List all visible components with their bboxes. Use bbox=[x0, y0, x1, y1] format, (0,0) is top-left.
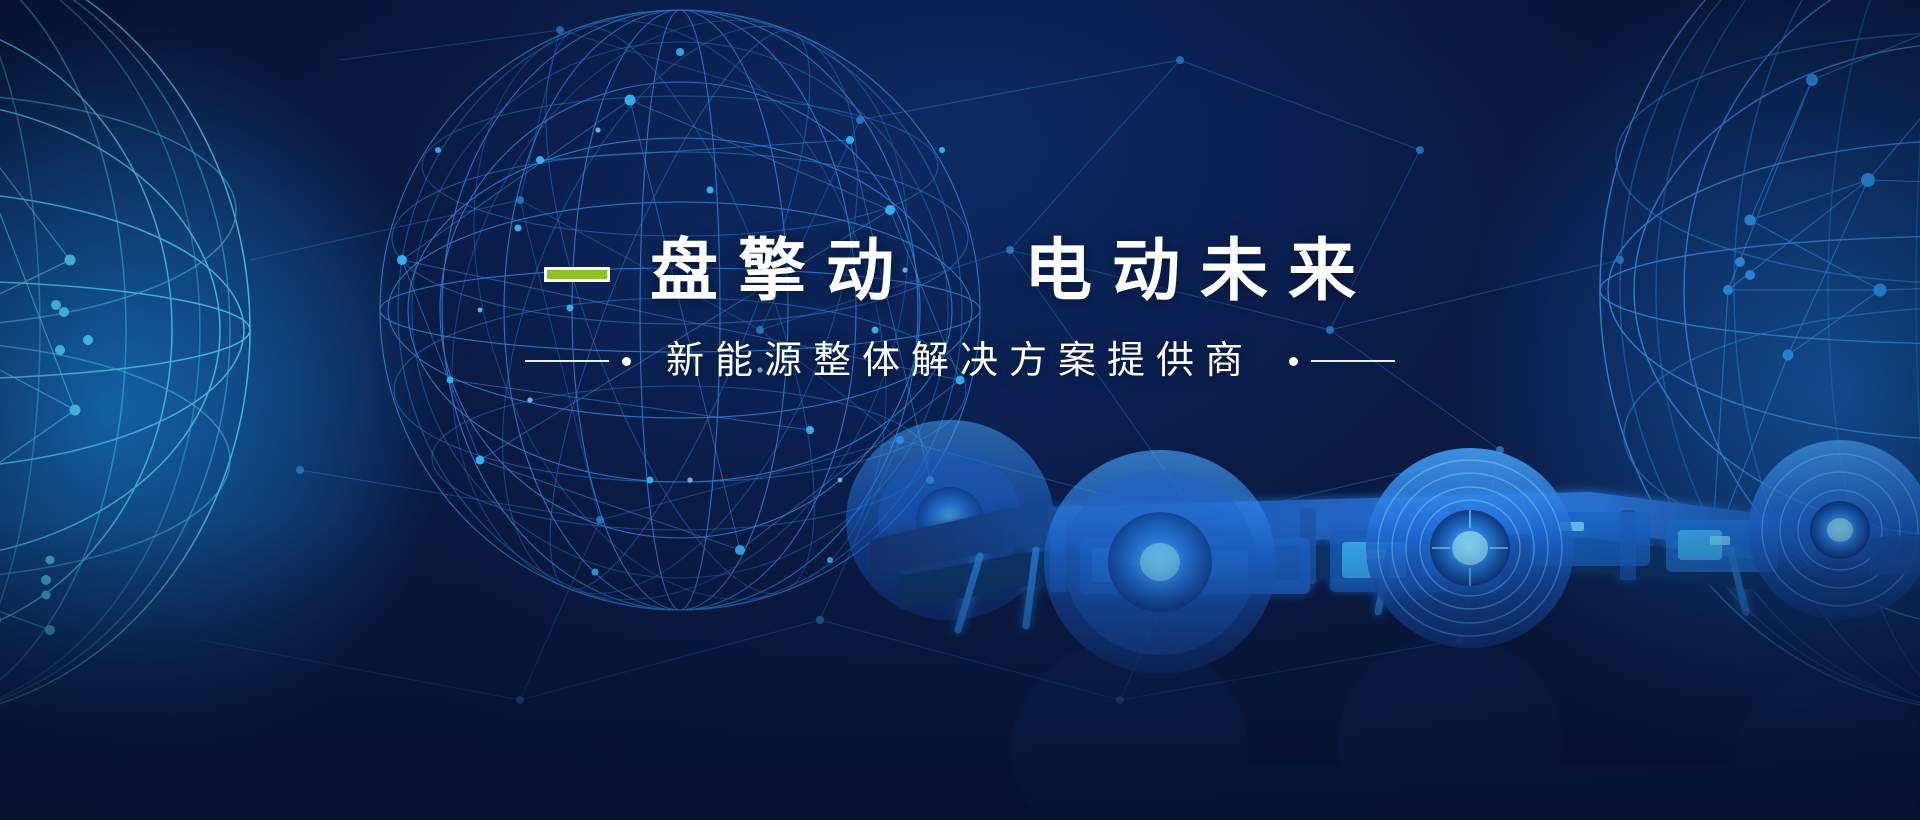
headline-segment-1: 盘擎动 bbox=[650, 237, 914, 305]
banner-text-block: 盘擎动 电动未来 新能源整体解决方案提供商 bbox=[0, 228, 1920, 386]
subtitle-left-dot bbox=[622, 357, 631, 366]
subtitle-text: 新能源整体解决方案提供商 bbox=[666, 342, 1254, 380]
subtitle-row: 新能源整体解决方案提供商 bbox=[0, 336, 1920, 386]
background-vignette bbox=[0, 0, 1920, 820]
subtitle-left-rule bbox=[525, 360, 609, 362]
subtitle-right-dot bbox=[1289, 357, 1298, 366]
headline-segment-2: 电动未来 bbox=[1024, 237, 1376, 305]
subtitle-right-rule bbox=[1311, 360, 1395, 362]
accent-dash-mark bbox=[544, 267, 610, 282]
hero-banner: 盘擎动 电动未来 新能源整体解决方案提供商 bbox=[0, 0, 1920, 820]
headline: 盘擎动 电动未来 bbox=[0, 228, 1920, 314]
